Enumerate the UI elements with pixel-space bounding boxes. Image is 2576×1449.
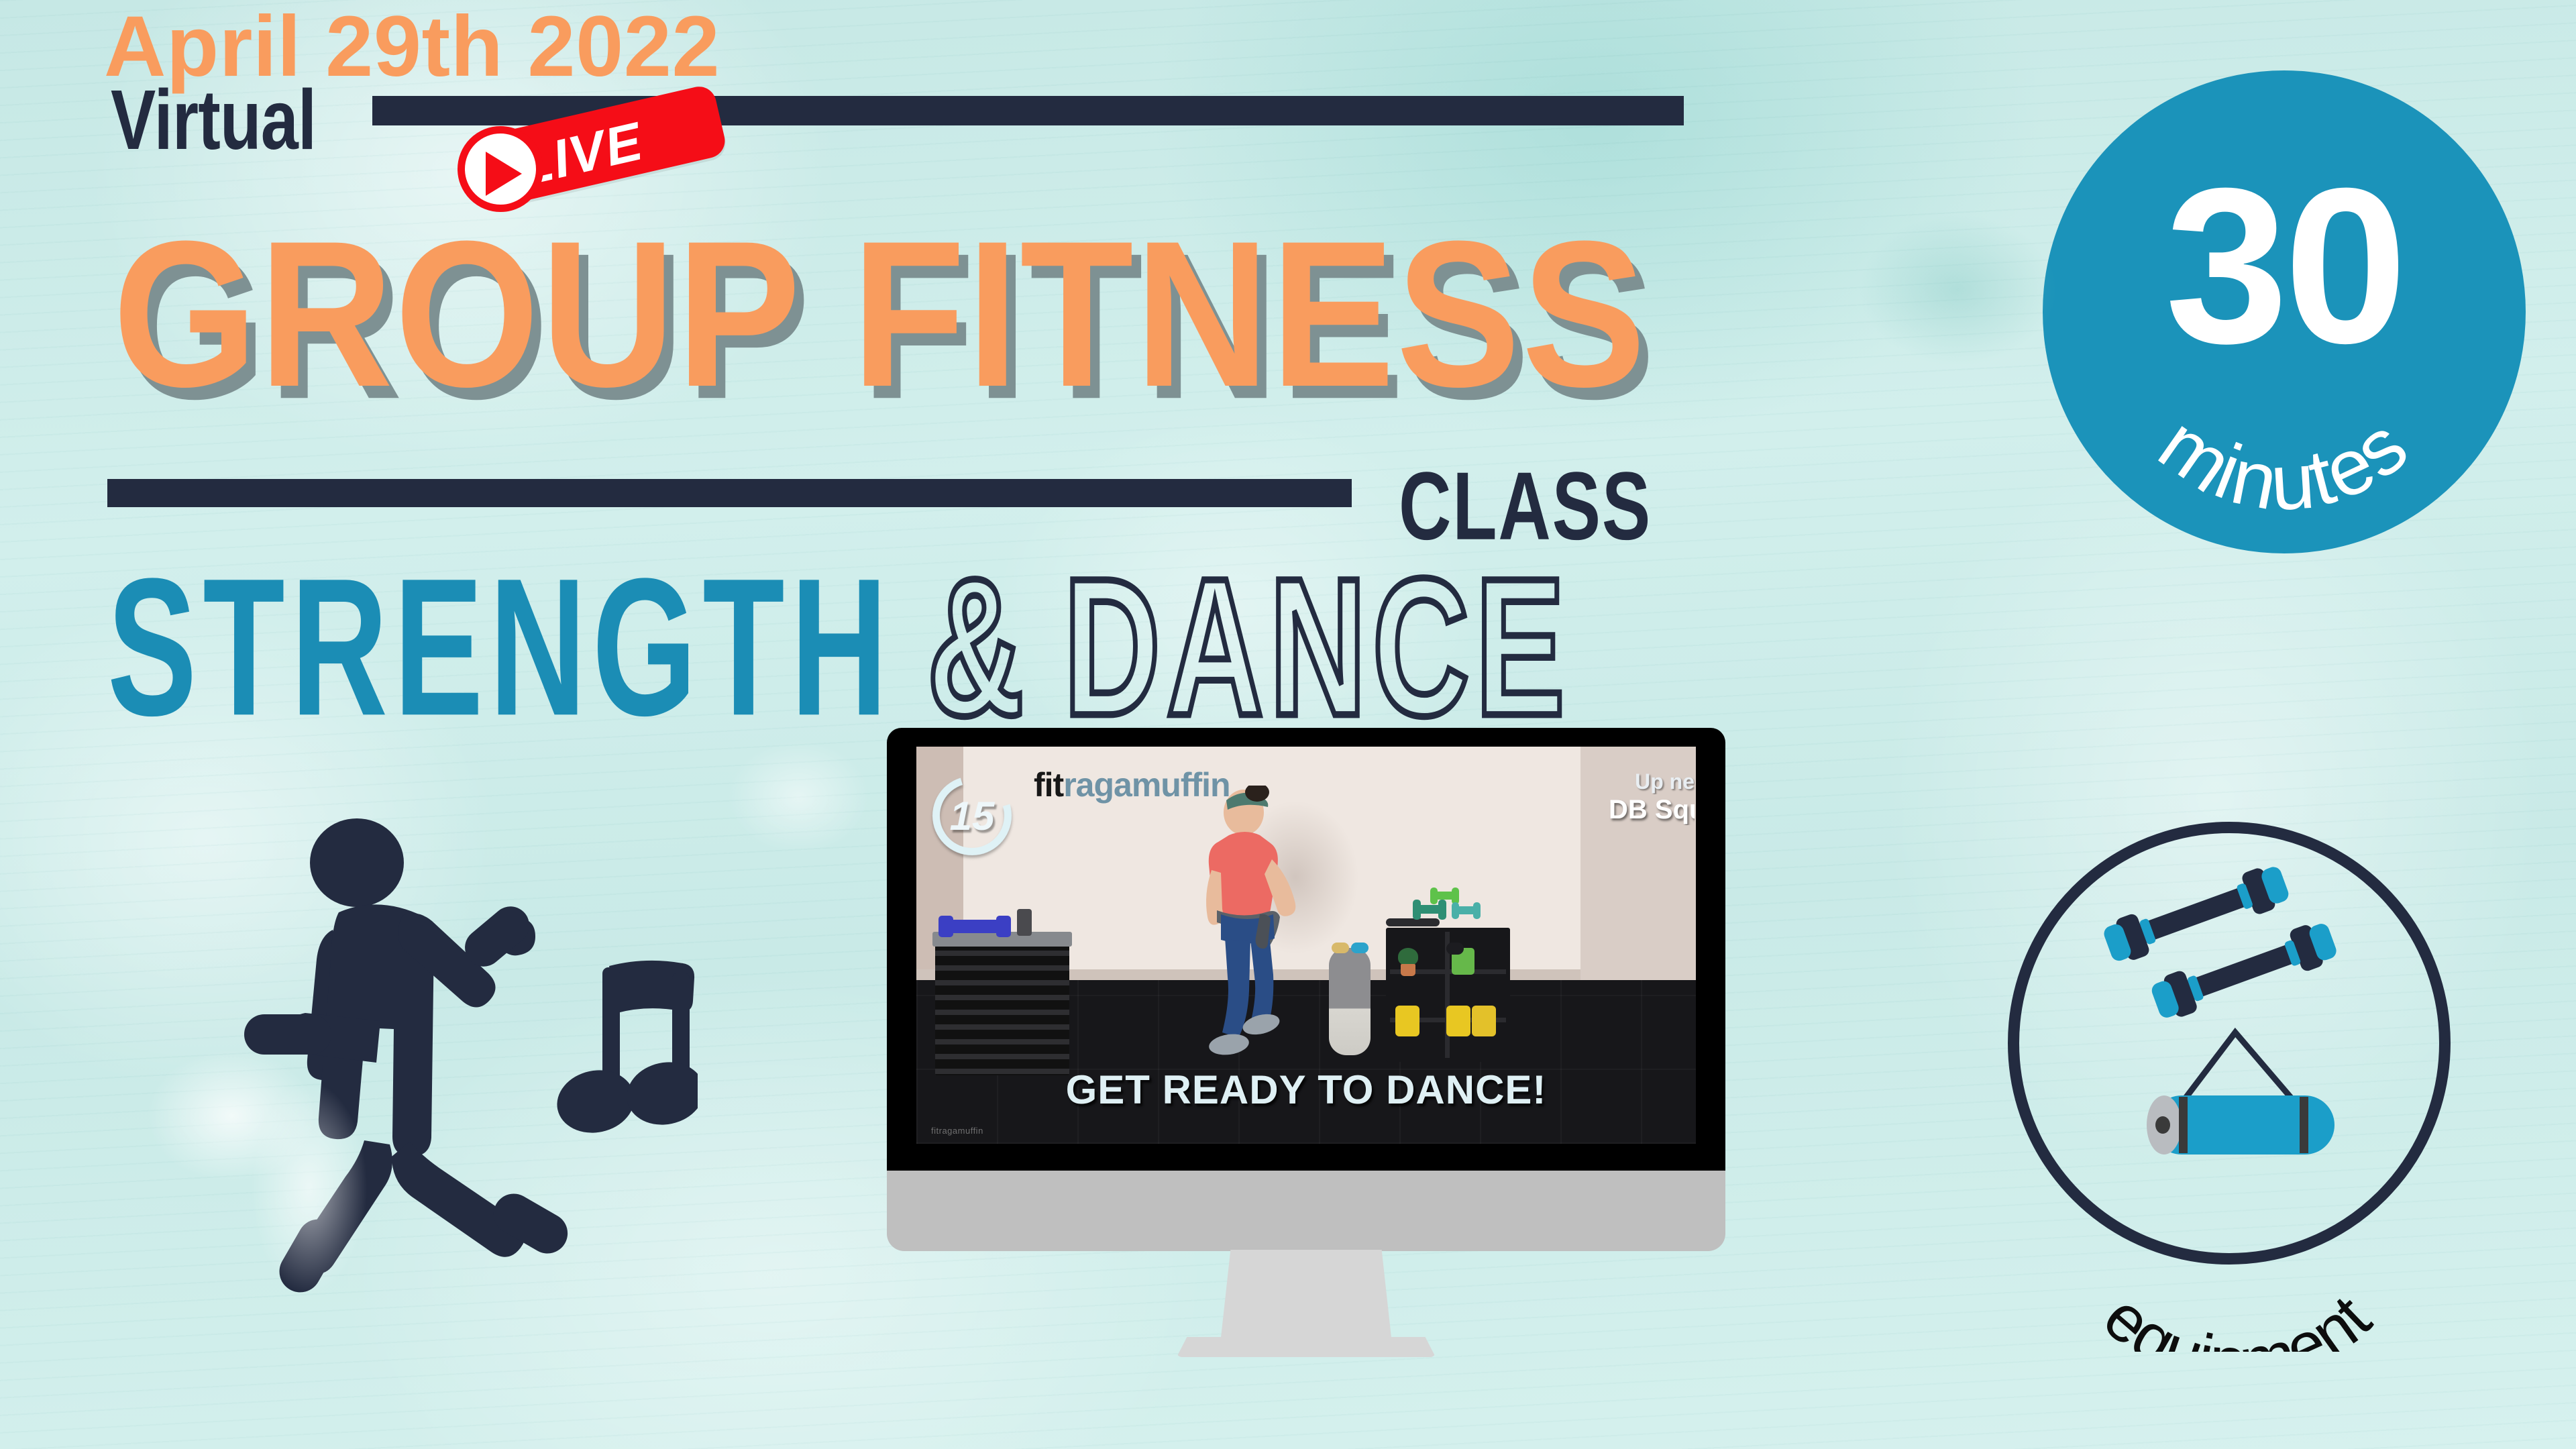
play-icon-triangle xyxy=(486,152,522,196)
video-kettlebell-yellow-3 xyxy=(1472,1006,1496,1036)
monitor-chin xyxy=(887,1171,1725,1251)
eighth-note-icon xyxy=(551,961,698,1140)
divider-mid xyxy=(107,479,1352,507)
video-step-top xyxy=(932,932,1072,947)
video-blue-dumbbell xyxy=(946,920,1004,933)
virtual-label: Virtual xyxy=(111,71,316,168)
video-kettlebell-yellow-2 xyxy=(1446,1006,1470,1036)
monitor-stand-base xyxy=(1177,1337,1436,1357)
video-dumbbell-rack xyxy=(1413,892,1487,929)
video-massage-gun xyxy=(1017,909,1032,936)
video-plant xyxy=(1397,948,1419,976)
video-kettlebell-yellow-1 xyxy=(1395,1006,1419,1036)
duration-unit: minutes xyxy=(2143,399,2424,527)
equipment-label: equipment xyxy=(2090,1280,2385,1352)
logo-part-fit: fit xyxy=(1034,766,1063,804)
fitragamuffin-logo: fitragamuffin xyxy=(1034,765,1230,804)
monitor-screen[interactable]: 15 fitragamuffin Up ne DB Squa GET READY… xyxy=(916,747,1696,1144)
dancing-person-icon xyxy=(201,798,698,1308)
video-roller-cap-blue xyxy=(1351,943,1368,953)
poster-canvas: April 29th 2022 Virtual LIVE GROUP FITNE… xyxy=(0,0,2576,1449)
duration-badge: 30 minutes xyxy=(2043,70,2526,553)
video-kettlebell-dark xyxy=(1446,943,1464,955)
monitor-stand-neck xyxy=(1220,1250,1392,1344)
page-title: GROUP FITNESS xyxy=(113,195,1647,434)
class-subtitle: STRENGTH&DANCE xyxy=(107,550,1571,684)
timer-value: 15 xyxy=(932,776,1012,855)
subtitle-strength: STRENGTH xyxy=(107,550,894,746)
up-next-value: DB Squa xyxy=(1609,795,1695,825)
video-watermark: fitragamuffin xyxy=(931,1126,983,1136)
subtitle-ampersand: & xyxy=(927,550,1030,746)
video-step-platforms xyxy=(935,941,1069,1075)
up-next-label: Up ne xyxy=(1609,769,1695,794)
subtitle-dance: DANCE xyxy=(1063,550,1570,746)
video-caption: GET READY TO DANCE! xyxy=(916,1067,1696,1113)
svg-text:minutes: minutes xyxy=(2143,399,2424,527)
svg-text:equipment: equipment xyxy=(2090,1280,2385,1352)
computer-monitor: 15 fitragamuffin Up ne DB Squa GET READY… xyxy=(887,728,1725,1449)
equipment-badge: equipment xyxy=(1996,822,2485,1352)
logo-part-ragamuffin: ragamuffin xyxy=(1063,766,1230,804)
video-instructor xyxy=(1171,786,1346,1067)
